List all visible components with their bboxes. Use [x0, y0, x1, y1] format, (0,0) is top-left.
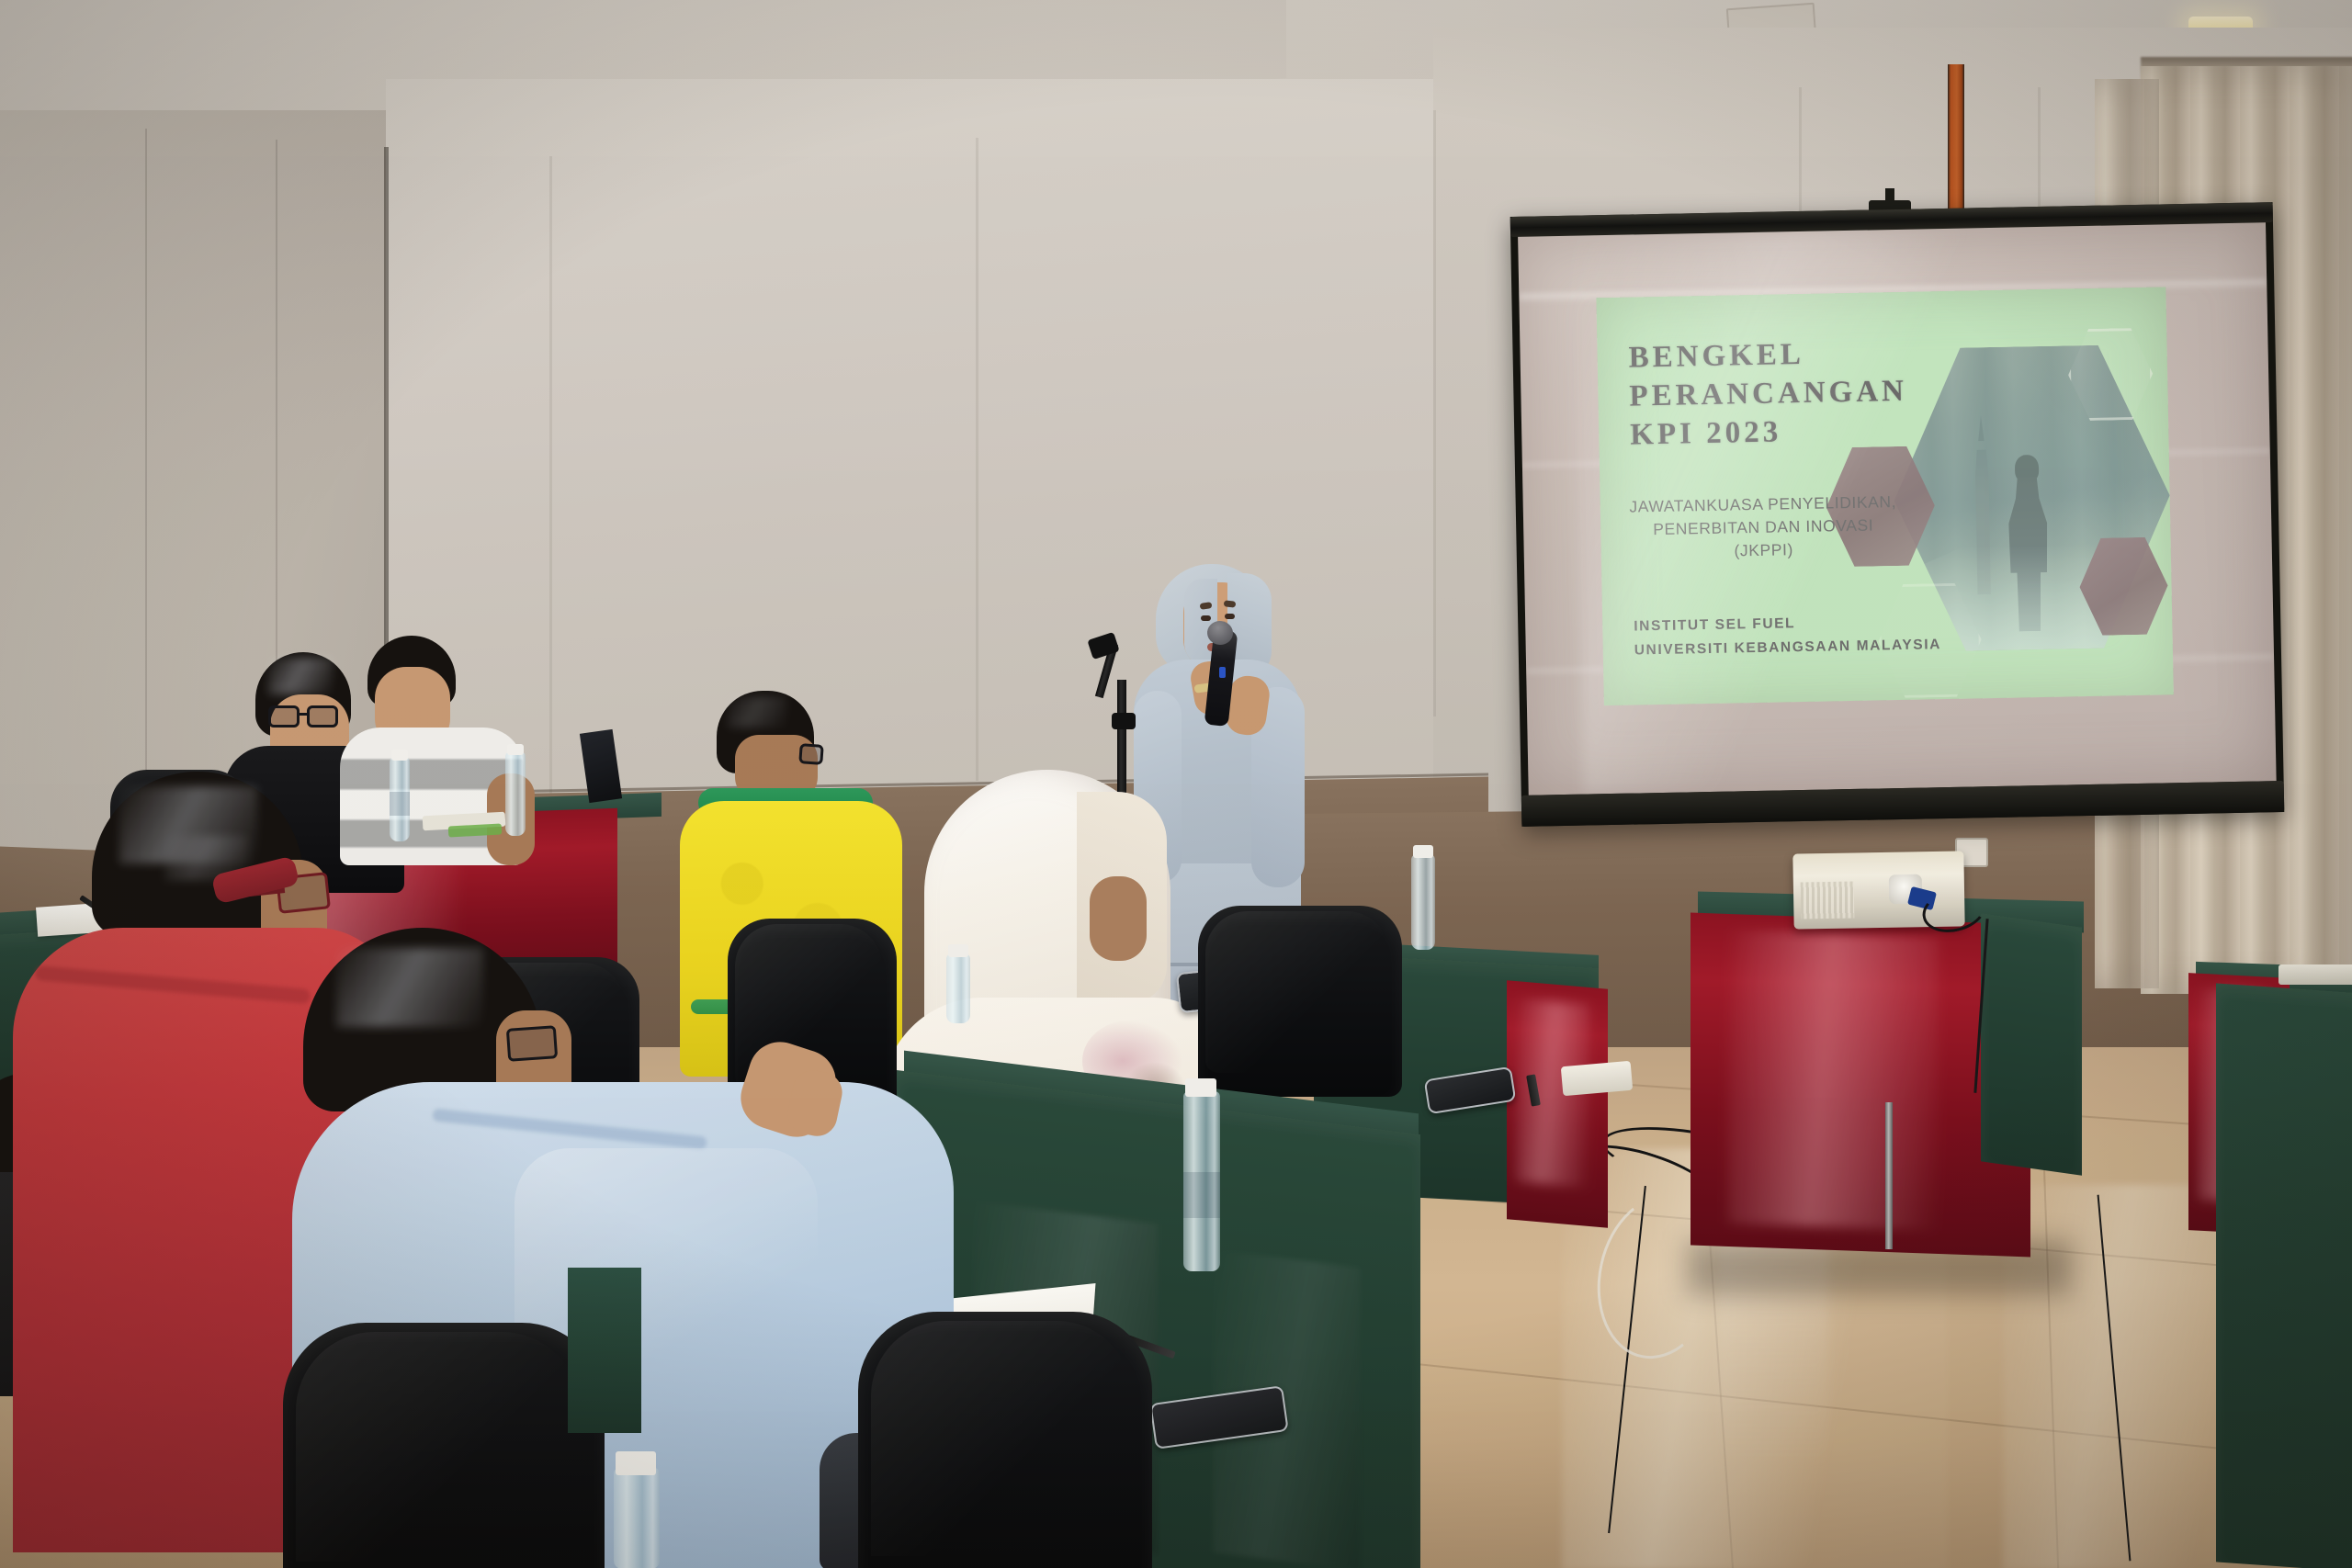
wall-panel-seam — [976, 138, 978, 781]
white-device[interactable] — [1561, 1061, 1633, 1097]
hair-highlight — [728, 696, 786, 728]
chair-highlight — [871, 1321, 1132, 1556]
bottle-cap[interactable] — [1185, 1078, 1216, 1097]
projector-table-red-sheen — [1727, 930, 1939, 1231]
eyeglasses — [506, 1025, 558, 1062]
table-cloth-gap — [568, 1268, 641, 1433]
chair-highlight — [1205, 911, 1389, 1073]
water-bottle[interactable] — [946, 953, 970, 1023]
microphone-led — [1219, 667, 1226, 678]
wall-panel-seam — [1433, 110, 1436, 716]
water-bottle[interactable] — [614, 1468, 660, 1568]
table-leg — [1885, 1102, 1893, 1249]
bottle-cap[interactable] — [1413, 845, 1433, 858]
presenter-eye-left — [1201, 615, 1211, 621]
eyeglasses-left-lens — [268, 705, 300, 728]
eyeglasses-right-lens — [307, 705, 338, 728]
bottle-label — [1183, 1172, 1220, 1218]
presenter-eyebrow-right — [1224, 600, 1237, 607]
mic-stand-collar[interactable] — [1112, 713, 1136, 729]
photo-scene: BENGKEL PERANCANGAN KPI 2023 JAWATANKUAS… — [0, 0, 2352, 1568]
eyeglasses-bridge — [300, 713, 309, 716]
wall-panel-seam — [549, 156, 552, 818]
projector-table-green-overlay — [1981, 913, 2082, 1175]
bottle-label — [390, 792, 410, 816]
bottle-cap[interactable] — [391, 750, 408, 761]
hair-highlight — [336, 948, 483, 1027]
water-bottle[interactable] — [1411, 854, 1435, 950]
projection-screen: BENGKEL PERANCANGAN KPI 2023 JAWATANKUAS… — [1510, 202, 2285, 827]
bottle-cap[interactable] — [507, 744, 524, 755]
screen-surface: BENGKEL PERANCANGAN KPI 2023 JAWATANKUAS… — [1518, 222, 2277, 795]
eyeglasses — [798, 743, 823, 765]
attendee-white-hijab-cheek — [1090, 876, 1147, 961]
water-bottle[interactable] — [505, 751, 526, 836]
presenter-eye-right — [1225, 614, 1235, 619]
chair-highlight — [296, 1332, 581, 1562]
bottle-cap[interactable] — [948, 944, 968, 957]
right-table-item[interactable] — [2278, 964, 2352, 985]
screen-glare — [1573, 227, 2043, 794]
bottle-cap[interactable] — [616, 1451, 656, 1475]
hair-highlight — [268, 658, 333, 694]
right-table-green-cloth — [2216, 983, 2352, 1568]
projector-vent — [1801, 881, 1855, 919]
